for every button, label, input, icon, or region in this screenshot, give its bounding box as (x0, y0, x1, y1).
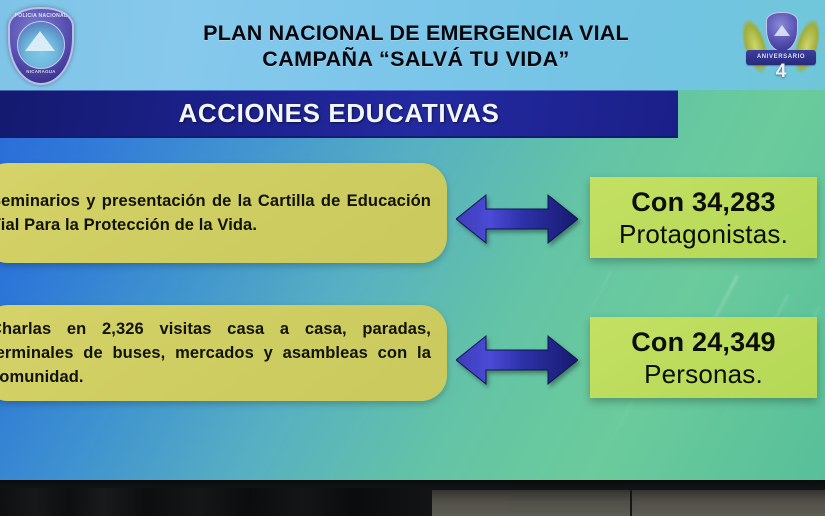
double-headed-arrow-icon-1 (456, 193, 578, 245)
result-label-1: Protagonistas. (619, 218, 788, 250)
furniture-seam (630, 490, 632, 516)
result-box-2: Con 24,349 Personas. (590, 317, 817, 398)
action-description-box-2: Charlas en 2,326 visitas casa a casa, pa… (0, 305, 447, 401)
tv-bezel (0, 480, 825, 516)
section-banner-title: ACCIONES EDUCATIVAS (0, 91, 678, 136)
shield-triangle (25, 31, 55, 51)
emblem-mini-shield (766, 12, 798, 52)
result-count-1: Con 34,283 (631, 186, 776, 218)
page-title: PLAN NACIONAL DE EMERGENCIA VIAL CAMPAÑA… (96, 20, 736, 72)
furniture-surface (432, 490, 825, 516)
page-title-line-2: CAMPAÑA “SALVÁ TU VIDA” (96, 46, 736, 72)
action-description-text-1: Seminarios y presentación de la Cartilla… (0, 189, 431, 237)
dark-background-objects (0, 488, 432, 516)
slide-header: POLICIA NACIONAL NICARAGUA PLAN NACIONAL… (0, 0, 825, 90)
emblem-triangle (774, 25, 790, 36)
page-title-line-1: PLAN NACIONAL DE EMERGENCIA VIAL (96, 20, 736, 46)
presentation-slide: POLICIA NACIONAL NICARAGUA PLAN NACIONAL… (0, 0, 825, 480)
emblem-anniversary-number: 4 (742, 61, 820, 83)
shield-text-top: POLICIA NACIONAL (8, 13, 74, 19)
policia-nacional-shield-icon: POLICIA NACIONAL NICARAGUA (8, 7, 74, 85)
action-description-box-1: Seminarios y presentación de la Cartilla… (0, 163, 447, 263)
double-headed-arrow-icon-2 (456, 334, 578, 386)
anniversary-emblem-icon: ANIVERSARIO 4 (742, 6, 820, 86)
result-box-1: Con 34,283 Protagonistas. (590, 177, 817, 258)
result-label-2: Personas. (644, 358, 763, 390)
action-description-text-2: Charlas en 2,326 visitas casa a casa, pa… (0, 317, 431, 389)
section-banner: ACCIONES EDUCATIVAS (0, 90, 678, 138)
screenshot-root: POLICIA NACIONAL NICARAGUA PLAN NACIONAL… (0, 0, 825, 516)
shield-text-bottom: NICARAGUA (8, 69, 74, 74)
result-count-2: Con 24,349 (631, 326, 776, 358)
